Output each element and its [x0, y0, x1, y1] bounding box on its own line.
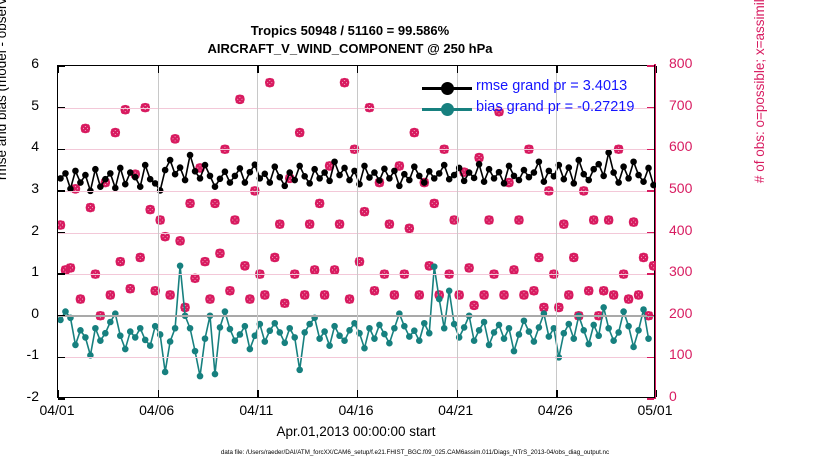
data-file-caption: data file: /Users/raeder/DAI/ATM_forcXX/… — [0, 449, 830, 456]
y-tick-label-left: 2 — [0, 222, 39, 238]
x-tick — [158, 390, 159, 397]
y-axis-title-right: # of obs: o=possible; x=assimilated — [752, 0, 767, 243]
y-tick-right — [647, 315, 654, 316]
y-tick-right — [647, 65, 654, 66]
chart-title-line1: Tropics 50948 / 51160 = 99.586% — [0, 23, 700, 38]
x-tick — [656, 390, 657, 397]
h-gridline — [58, 233, 654, 234]
y-tick-label-right: 600 — [669, 138, 715, 154]
y-tick-left — [58, 398, 65, 399]
legend-label: bias grand pr = -0.27219 — [476, 99, 634, 115]
y-tick-label-left: 6 — [0, 55, 39, 71]
x-tick-label: 04/21 — [426, 402, 486, 418]
y-tick-label-left: 3 — [0, 180, 39, 196]
legend-item: bias grand pr = -0.27219 — [422, 99, 654, 120]
y-tick-label-right: 800 — [669, 55, 715, 71]
y-axis-title-left: rmse and bias (model - observation) — [0, 0, 9, 232]
chart-legend: rmse grand pr = 3.4013bias grand pr = -0… — [422, 78, 654, 120]
y-tick-right — [647, 190, 654, 191]
x-tick-top — [556, 66, 557, 73]
y-tick-label-left: -1 — [0, 346, 39, 362]
y-tick-left — [58, 190, 65, 191]
y-tick-right — [647, 398, 654, 399]
legend-item: rmse grand pr = 3.4013 — [422, 78, 654, 99]
y-tick-label-right: 400 — [669, 222, 715, 238]
y-tick-right — [647, 273, 654, 274]
x-axis-title: Apr.01,2013 00:00:00 start — [57, 424, 655, 439]
y-tick-left — [58, 357, 65, 358]
zero-reference-line — [58, 315, 654, 318]
h-gridline — [58, 357, 654, 358]
y-tick-left — [58, 107, 65, 108]
x-tick-top — [58, 66, 59, 73]
v-gridline — [357, 66, 358, 397]
x-tick-label: 04/01 — [27, 402, 87, 418]
y-tick-left — [58, 232, 65, 233]
x-tick-top — [158, 66, 159, 73]
y-tick-left — [58, 315, 65, 316]
x-tick-label: 04/11 — [226, 402, 286, 418]
chart-title-line2: AIRCRAFT_V_WIND_COMPONENT @ 250 hPa — [0, 41, 700, 56]
x-tick-top — [357, 66, 358, 73]
h-gridline — [58, 191, 654, 192]
x-tick-top — [656, 66, 657, 73]
line-series — [58, 263, 651, 379]
x-tick — [556, 390, 557, 397]
y-tick-label-left: 0 — [0, 305, 39, 321]
x-tick — [457, 390, 458, 397]
h-gridline — [58, 149, 654, 150]
y-tick-right — [647, 149, 654, 150]
y-tick-left — [58, 273, 65, 274]
x-tick-label: 05/01 — [625, 402, 685, 418]
x-tick-label: 04/16 — [326, 402, 386, 418]
y-tick-label-right: 200 — [669, 305, 715, 321]
x-tick-top — [457, 66, 458, 73]
x-tick — [257, 390, 258, 397]
y-tick-label-left: 4 — [0, 138, 39, 154]
h-gridline — [58, 274, 654, 275]
y-tick-right — [647, 357, 654, 358]
v-gridline — [257, 66, 258, 397]
legend-marker-icon — [441, 103, 454, 116]
x-tick — [357, 390, 358, 397]
y-tick-label-right: 100 — [669, 346, 715, 362]
y-tick-right — [647, 232, 654, 233]
legend-marker-icon — [441, 82, 454, 95]
y-tick-label-right: 300 — [669, 263, 715, 279]
y-tick-label-right: 700 — [669, 97, 715, 113]
x-tick-top — [257, 66, 258, 73]
x-tick — [58, 390, 59, 397]
figure-canvas: Tropics 50948 / 51160 = 99.586% AIRCRAFT… — [0, 0, 830, 470]
y-tick-label-right: 500 — [669, 180, 715, 196]
legend-label: rmse grand pr = 3.4013 — [476, 78, 627, 94]
x-tick-label: 04/26 — [525, 402, 585, 418]
v-gridline — [158, 66, 159, 397]
y-tick-label-left: 1 — [0, 263, 39, 279]
x-tick-label: 04/06 — [127, 402, 187, 418]
y-tick-label-left: 5 — [0, 97, 39, 113]
y-tick-left — [58, 149, 65, 150]
